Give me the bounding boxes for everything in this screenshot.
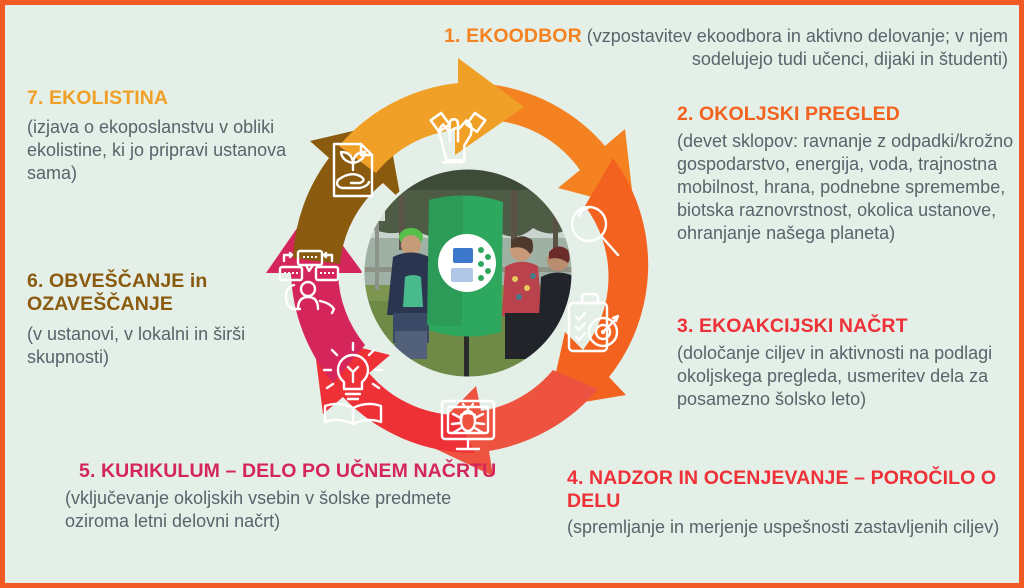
step-2-body: (devet sklopov: ravnanje z odpadki/krožn…	[677, 130, 1022, 245]
eco-schools-flag-photo	[363, 168, 579, 380]
step-5-number: 5.	[79, 460, 95, 482]
step-6-heading: OBVEŠČANJE in OZAVEŠČANJE	[27, 270, 207, 315]
step-3-number: 3.	[677, 315, 693, 337]
infographic-frame: 1. EKOODBOR (vzpostavitev ekoodbora in a…	[0, 0, 1024, 588]
step-3-heading: EKOAKCIJSKI NAČRT	[699, 315, 908, 337]
step-2-heading: OKOLJSKI PREGLED	[699, 103, 900, 125]
step-4-number: 4.	[567, 467, 583, 489]
seven-steps-cycle-diagram	[253, 45, 683, 485]
step-7-number: 7.	[27, 87, 43, 109]
step-5-text-block: 5. KURIKULUM – DELO PO UČNEM NAČRTU (vkl…	[57, 460, 507, 533]
step-2-text-block: 2. OKOLJSKI PREGLED (devet sklopov: ravn…	[677, 103, 1022, 245]
step-5-heading: KURIKULUM – DELO PO UČNEM NAČRTU	[101, 460, 496, 482]
step-4-body: (spremljanje in merjenje uspešnosti zast…	[567, 516, 1007, 539]
step-3-text-block: 3. EKOAKCIJSKI NAČRT (določanje ciljev i…	[677, 315, 1022, 411]
step-1-text-block: 1. EKOODBOR (vzpostavitev ekoodbora in a…	[383, 25, 1008, 71]
step-7-body: (izjava o ekoposlanstvu v obliki ekolist…	[27, 116, 297, 185]
step-4-text-block: 4. NADZOR IN OCENJEVANJE – POROČILO O DE…	[567, 467, 1007, 539]
step-4-heading: NADZOR IN OCENJEVANJE – POROČILO O DELU	[567, 467, 996, 512]
step-1-heading: EKOODBOR	[466, 25, 582, 47]
step-5-body: (vključevanje okoljskih vsebin v šolske …	[57, 487, 507, 533]
step-6-number: 6.	[27, 270, 43, 292]
step-1-body: (vzpostavitev ekoodbora in aktivno delov…	[587, 26, 1008, 69]
step-2-number: 2.	[677, 103, 693, 125]
step-7-text-block: 7. EKOLISTINA (izjava o ekoposlanstvu v …	[27, 87, 297, 185]
step-6-text-block: 6. OBVEŠČANJE in OZAVEŠČANJE (v ustanovi…	[27, 270, 292, 369]
step-7-heading: EKOLISTINA	[49, 87, 168, 109]
step-3-body: (določanje ciljev in aktivnosti na podla…	[677, 342, 1022, 411]
step-6-body: (v ustanovi, v lokalni in širši skupnost…	[27, 323, 292, 369]
step-1-number: 1.	[444, 25, 460, 47]
